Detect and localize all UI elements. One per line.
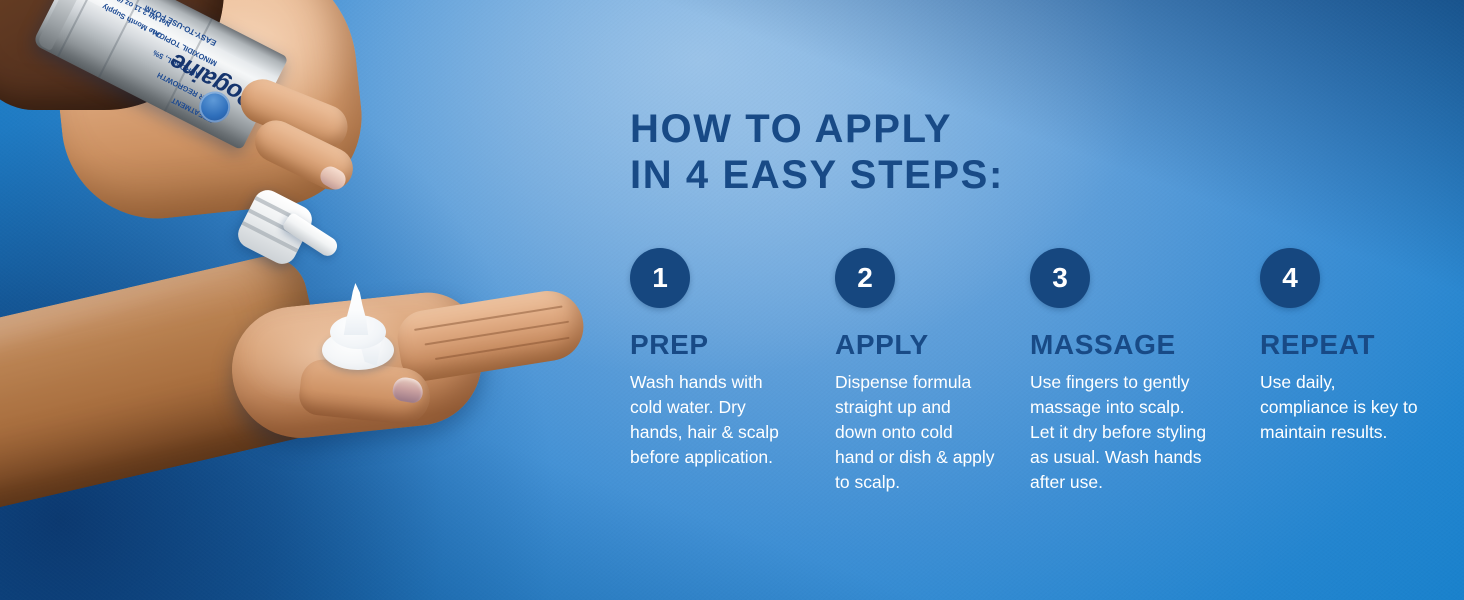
step-item-4: 4 REPEAT Use daily, compliance is key to… [1260,248,1428,445]
step-description: Dispense formula straight up and down on… [835,370,995,495]
step-title: REPEAT [1260,330,1428,360]
step-title: APPLY [835,330,995,360]
step-number-badge: 1 [630,248,690,308]
step-number-badge: 3 [1030,248,1090,308]
instructions-content: HOW TO APPLY IN 4 EASY STEPS: 1 PREP Was… [630,0,1464,600]
step-description: Use fingers to gently massage into scalp… [1030,370,1210,495]
step-number-badge: 2 [835,248,895,308]
product-photo: Net Wt 2.11 oz (60 g) One Month Supply E… [0,0,600,600]
page-title: HOW TO APPLY IN 4 EASY STEPS: [630,106,1004,198]
step-description: Use daily, compliance is key to maintain… [1260,370,1428,445]
step-description: Wash hands with cold water. Dry hands, h… [630,370,790,470]
step-number-badge: 4 [1260,248,1320,308]
step-item-1: 1 PREP Wash hands with cold water. Dry h… [630,248,790,470]
step-item-2: 2 APPLY Dispense formula straight up and… [835,248,995,495]
step-title: MASSAGE [1030,330,1210,360]
how-to-apply-banner: Net Wt 2.11 oz (60 g) One Month Supply E… [0,0,1464,600]
step-item-3: 3 MASSAGE Use fingers to gently massage … [1030,248,1210,495]
step-title: PREP [630,330,790,360]
